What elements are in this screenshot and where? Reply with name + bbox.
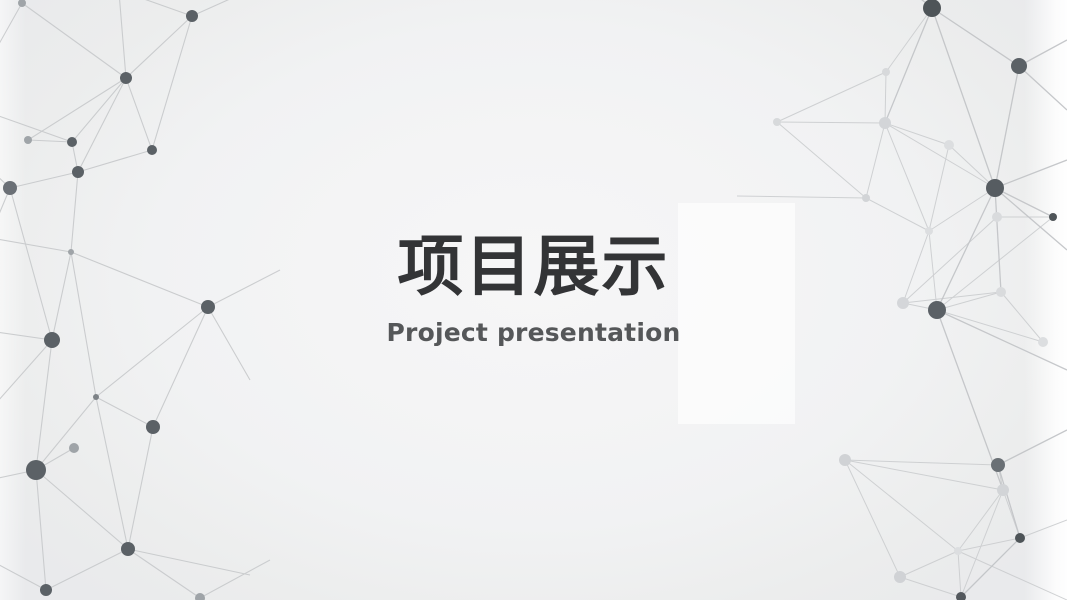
page-subtitle: Project presentation xyxy=(0,319,1067,347)
title-block: 项目展示 Project presentation xyxy=(0,232,1067,347)
presentation-slide: 项目展示 Project presentation xyxy=(0,0,1067,600)
page-title: 项目展示 xyxy=(0,232,1067,301)
